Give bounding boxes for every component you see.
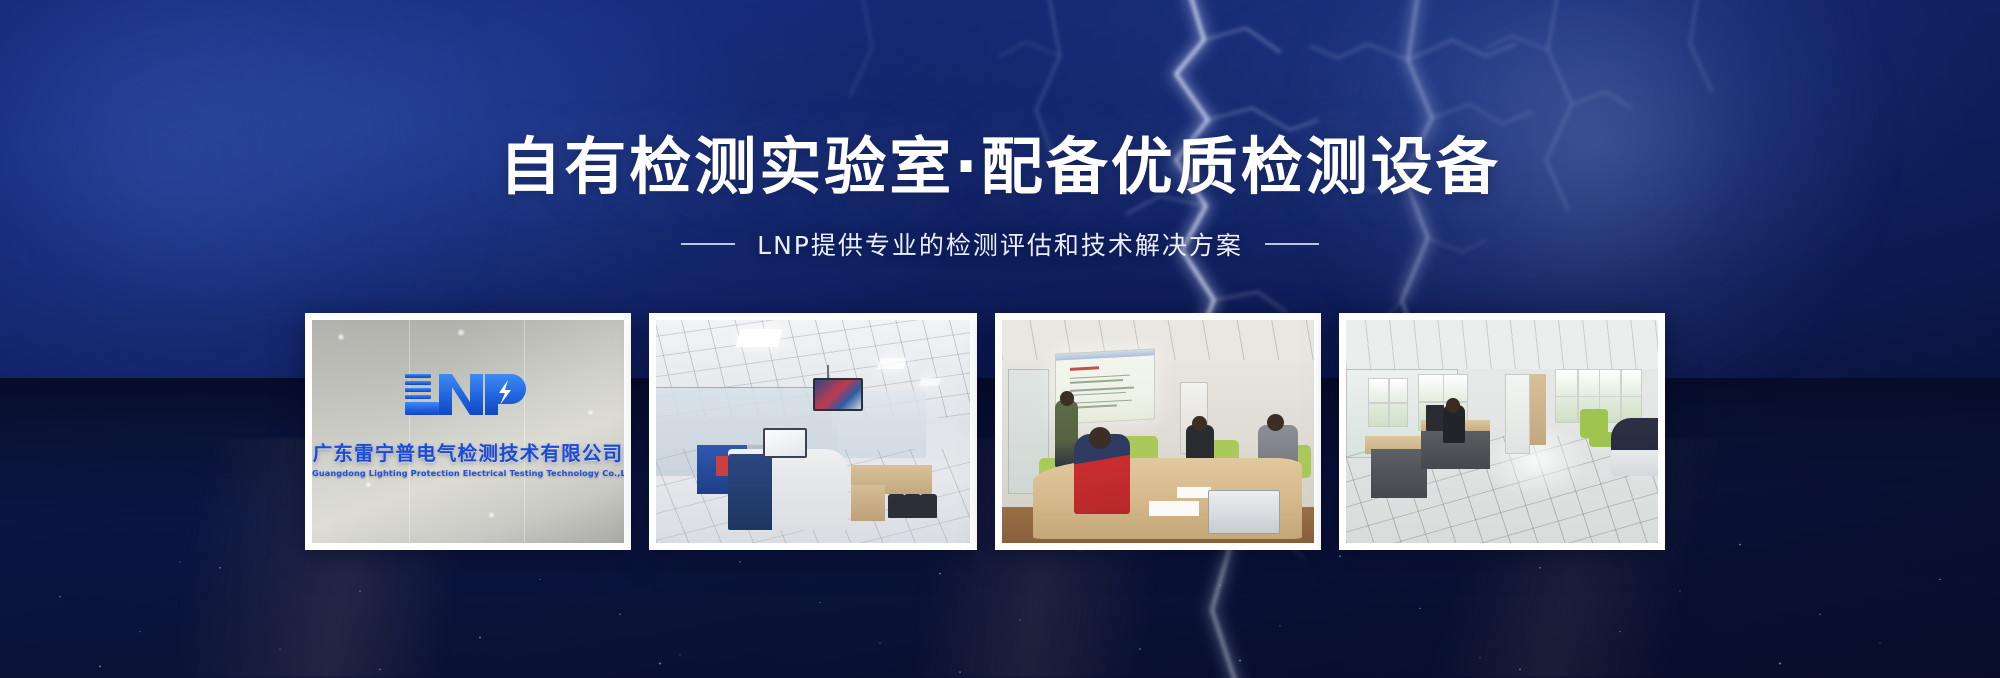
wall-monitor-icon — [813, 378, 863, 411]
signboard-company-name-en: Guangdong Lighting Protection Electrical… — [312, 468, 624, 478]
gallery-item-testing-laboratory[interactable] — [649, 313, 977, 550]
hero-banner: 自有检测实验室·配备优质检测设备 LNP提供专业的检测评估和技术解决方案 — [0, 0, 2000, 678]
gallery-item-training-meeting-room[interactable] — [995, 313, 1321, 550]
banner-text-block: 自有检测实验室·配备优质检测设备 LNP提供专业的检测评估和技术解决方案 — [0, 0, 2000, 262]
page-title: 自有检测实验室·配备优质检测设备 — [0, 136, 2000, 198]
banner-subtitle: LNP提供专业的检测评估和技术解决方案 — [757, 226, 1243, 262]
lnp-logo-icon — [399, 364, 537, 426]
laptop-icon — [1208, 490, 1280, 535]
photo-office-area — [1346, 320, 1658, 543]
photo-company-signboard: 广东雷宁普电气检测技术有限公司 Guangdong Lighting Prote… — [312, 320, 624, 543]
photo-testing-laboratory — [656, 320, 970, 543]
signboard-content: 广东雷宁普电气检测技术有限公司 Guangdong Lighting Prote… — [312, 364, 624, 478]
console-monitor-icon — [763, 428, 807, 458]
photo-gallery: 广东雷宁普电气检测技术有限公司 Guangdong Lighting Prote… — [305, 313, 1665, 550]
signboard-company-name-cn: 广东雷宁普电气检测技术有限公司 — [312, 437, 624, 466]
gallery-item-office-area[interactable] — [1339, 313, 1665, 550]
rule-left-icon — [681, 243, 735, 245]
rule-right-icon — [1265, 243, 1319, 245]
banner-subtitle-row: LNP提供专业的检测评估和技术解决方案 — [0, 226, 2000, 262]
photo-training-meeting-room — [1002, 320, 1314, 543]
gallery-item-company-signboard[interactable]: 广东雷宁普电气检测技术有限公司 Guangdong Lighting Prote… — [305, 313, 631, 550]
